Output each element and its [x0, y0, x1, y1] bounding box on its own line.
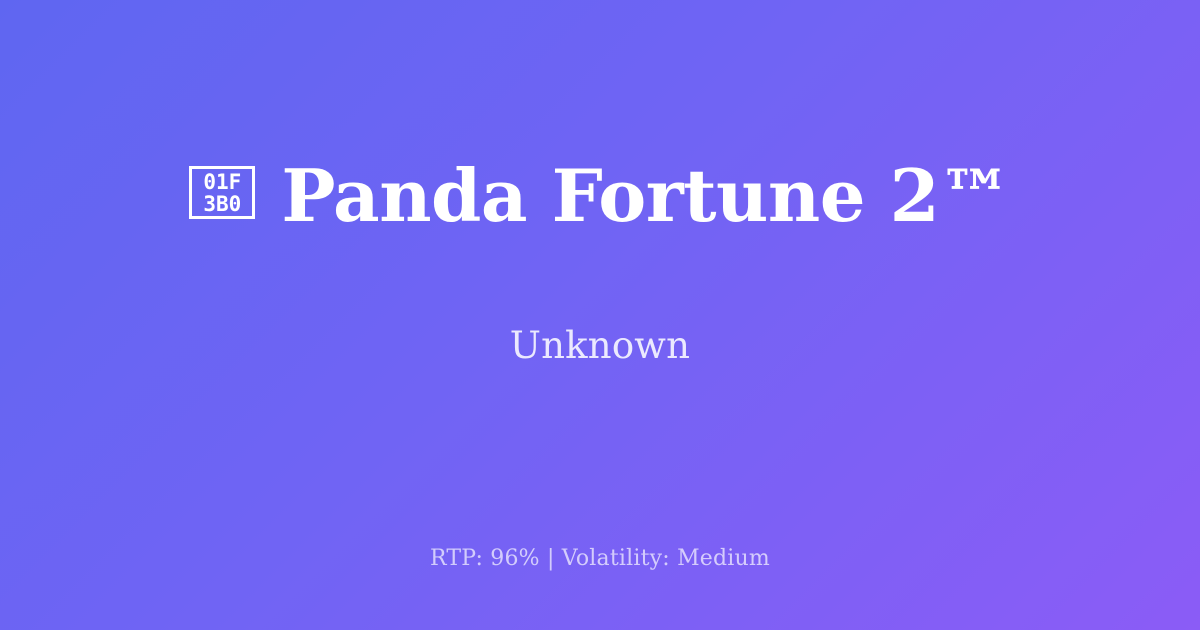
- card-content-block: 01F 3B0 Panda Fortune 2™ Unknown: [0, 0, 1200, 478]
- page-title: Panda Fortune 2™: [281, 158, 1010, 234]
- card-subtitle: Unknown: [510, 324, 690, 368]
- tofu-codepoint-top: 01F: [203, 171, 241, 193]
- og-share-card: 01F 3B0 Panda Fortune 2™ Unknown RTP: 96…: [0, 0, 1200, 630]
- card-footer: RTP: 96% | Volatility: Medium: [0, 546, 1200, 572]
- game-meta-line: RTP: 96% | Volatility: Medium: [430, 546, 770, 572]
- title-row: 01F 3B0 Panda Fortune 2™: [189, 109, 1010, 282]
- tofu-codepoint-bottom: 3B0: [203, 193, 241, 215]
- slot-machine-icon: 01F 3B0: [189, 166, 255, 219]
